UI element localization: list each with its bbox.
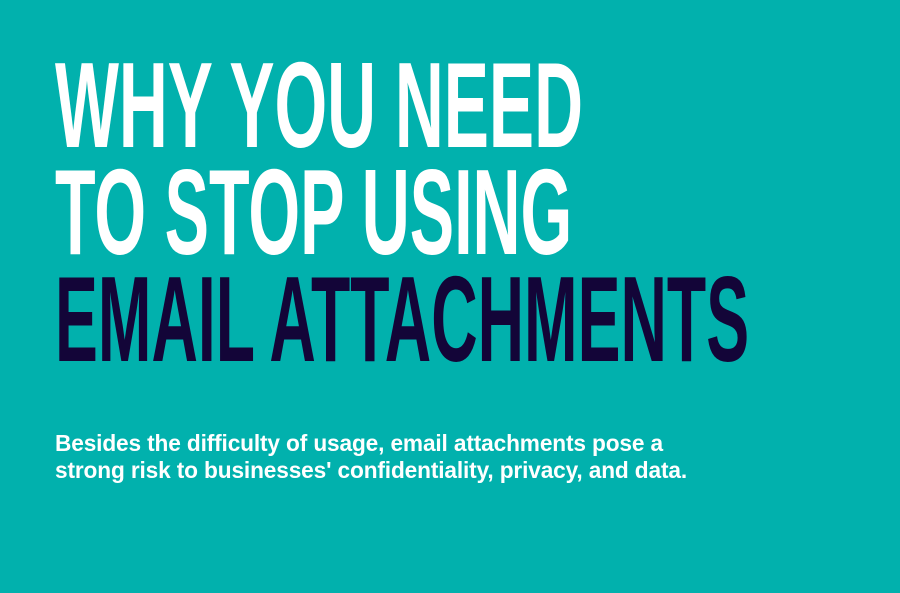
headline-block: WHY YOU NEED TO STOP USING EMAIL ATTACHM… [55, 52, 875, 373]
body-copy-line-1: Besides the difficulty of usage, email a… [55, 430, 788, 457]
poster-canvas: WHY YOU NEED TO STOP USING EMAIL ATTACHM… [0, 0, 900, 593]
body-copy-block: Besides the difficulty of usage, email a… [55, 430, 788, 484]
headline-line-2: TO STOP USING [55, 159, 502, 266]
headline-line-3-emphasis: EMAIL ATTACHMENTS [55, 266, 487, 373]
body-copy-line-2: strong risk to businesses' confidentiali… [55, 457, 788, 484]
headline-line-1: WHY YOU NEED [55, 52, 510, 159]
